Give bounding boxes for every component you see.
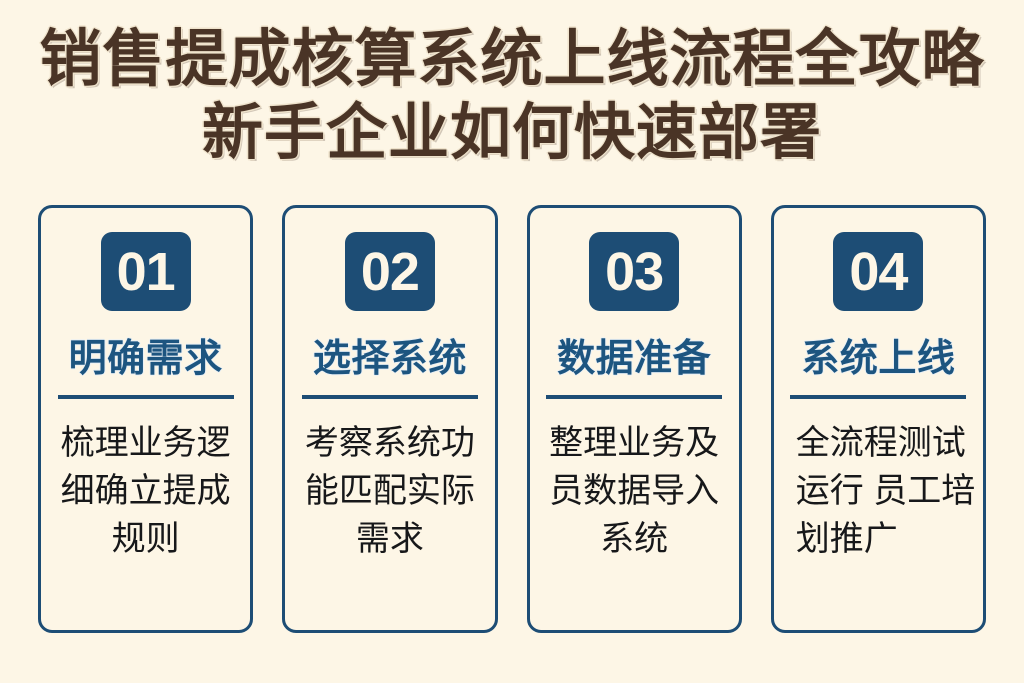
step-heading-2: 选择系统 — [313, 337, 467, 381]
step-body-4-line-3: 划推广 — [796, 515, 973, 563]
step-divider-1 — [58, 395, 234, 399]
step-number-badge-3: 03 — [589, 232, 679, 311]
step-body-4-line-2: 运行 员工培 — [796, 467, 973, 515]
step-card-3-content: 03 数据准备 整理业务及 员数据导入 系统 — [530, 208, 739, 630]
step-body-2: 考察系统功 能匹配实际 需求 — [295, 419, 484, 563]
page-title-line-2: 新手企业如何快速部署 — [0, 96, 1024, 168]
step-number-3: 03 — [605, 245, 663, 299]
step-body-3-line-1: 整理业务及 — [549, 424, 719, 462]
step-number-badge-4: 04 — [833, 232, 923, 311]
step-body-2-line-2: 能匹配实际 — [305, 472, 475, 510]
step-divider-4 — [790, 395, 966, 399]
step-body-1-line-1: 梳理业务逻 — [61, 424, 231, 462]
step-divider-3 — [546, 395, 722, 399]
step-card-1[interactable]: 01 明确需求 梳理业务逻 细确立提成 规则 — [38, 205, 253, 633]
step-body-3-line-2: 员数据导入 — [549, 472, 719, 510]
step-body-1: 梳理业务逻 细确立提成 规则 — [51, 419, 240, 563]
step-number-badge-2: 02 — [345, 232, 435, 311]
step-card-3[interactable]: 03 数据准备 整理业务及 员数据导入 系统 — [527, 205, 742, 633]
step-body-1-line-3: 规则 — [112, 520, 180, 558]
step-number-1: 01 — [117, 245, 175, 299]
step-divider-2 — [302, 395, 478, 399]
step-body-3-line-3: 系统 — [600, 520, 668, 558]
steps-card-row: 01 明确需求 梳理业务逻 细确立提成 规则 02 选择系统 考察系统功 能匹配… — [38, 205, 986, 633]
step-heading-3: 数据准备 — [557, 337, 711, 381]
page-title: 销售提成核算系统上线流程全攻略 新手企业如何快速部署 — [0, 24, 1024, 168]
step-heading-4: 系统上线 — [801, 337, 955, 381]
step-card-4-content: 04 系统上线 全流程测试 运行 员工培 划推广 — [774, 208, 983, 630]
step-body-2-line-3: 需求 — [356, 520, 424, 558]
step-card-2-content: 02 选择系统 考察系统功 能匹配实际 需求 — [285, 208, 494, 630]
step-body-1-line-2: 细确立提成 — [61, 472, 231, 510]
step-card-1-content: 01 明确需求 梳理业务逻 细确立提成 规则 — [41, 208, 250, 630]
step-body-3: 整理业务及 员数据导入 系统 — [540, 419, 729, 563]
infographic-page: { "colors": { "background": "#fdf6e6", "… — [0, 0, 1024, 683]
step-body-2-line-1: 考察系统功 — [305, 424, 475, 462]
step-card-2[interactable]: 02 选择系统 考察系统功 能匹配实际 需求 — [282, 205, 497, 633]
step-heading-1: 明确需求 — [69, 337, 223, 381]
step-body-4-line-1: 全流程测试 — [796, 419, 973, 467]
step-card-4[interactable]: 04 系统上线 全流程测试 运行 员工培 划推广 — [771, 205, 986, 633]
step-number-2: 02 — [361, 245, 419, 299]
page-title-line-1: 销售提成核算系统上线流程全攻略 — [0, 24, 1024, 96]
step-body-4: 全流程测试 运行 员工培 划推广 — [784, 419, 973, 563]
step-number-badge-1: 01 — [101, 232, 191, 311]
step-number-4: 04 — [849, 245, 907, 299]
